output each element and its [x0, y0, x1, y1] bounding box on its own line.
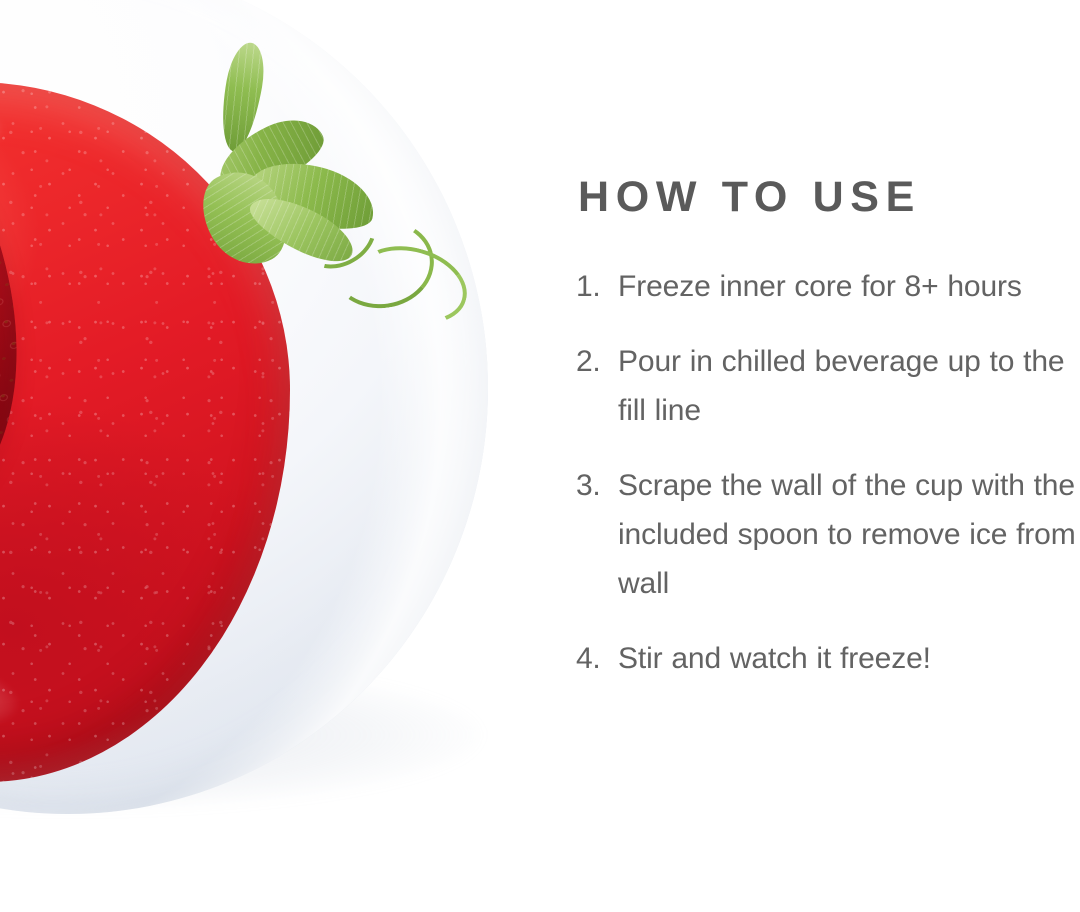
how-to-use-steps: 1. Freeze inner core for 8+ hours 2. Pou… — [576, 262, 1080, 683]
list-item: 2. Pour in chilled beverage up to the fi… — [576, 337, 1080, 435]
product-photo — [0, 0, 520, 912]
list-item: 3. Scrape the wall of the cup with the i… — [576, 461, 1080, 608]
step-number: 4. — [576, 634, 618, 683]
step-text: Stir and watch it freeze! — [618, 634, 1080, 683]
step-text: Pour in chilled beverage up to the fill … — [618, 337, 1080, 435]
step-text: Scrape the wall of the cup with the incl… — [618, 461, 1080, 608]
page-title: HOW TO USE — [578, 176, 921, 219]
instructions-pane: HOW TO USE 1. Freeze inner core for 8+ h… — [520, 0, 1080, 912]
step-number: 1. — [576, 262, 618, 311]
list-item: 4. Stir and watch it freeze! — [576, 634, 1080, 683]
step-number: 2. — [576, 337, 618, 386]
product-how-to-use-panel: HOW TO USE 1. Freeze inner core for 8+ h… — [0, 0, 1080, 912]
list-item: 1. Freeze inner core for 8+ hours — [576, 262, 1080, 311]
step-number: 3. — [576, 461, 618, 510]
step-text: Freeze inner core for 8+ hours — [618, 262, 1080, 311]
